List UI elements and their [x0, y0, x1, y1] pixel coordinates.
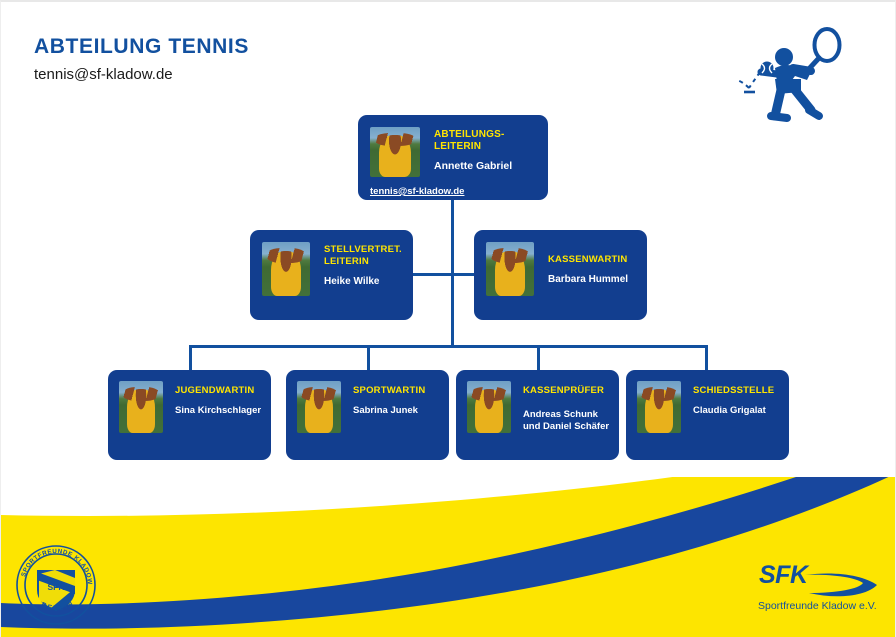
- role-label: ABTEILUNGS- LEITERIN: [434, 129, 548, 153]
- org-card-schiedsstelle[interactable]: SCHIEDSSTELLE Claudia Grigalat: [626, 370, 789, 460]
- connector-drop-1: [189, 345, 192, 371]
- person-photo: [486, 242, 534, 296]
- connector-horizontal-row2: [413, 273, 474, 276]
- person-photo: [119, 381, 163, 433]
- person-photo: [637, 381, 681, 433]
- person-photo: [262, 242, 310, 296]
- person-name: Barbara Hummel: [548, 273, 647, 286]
- card-body: JUGENDWARTIN Sina Kirchschlager: [108, 370, 271, 433]
- person-name: Andreas Schunk und Daniel Schäfer: [523, 409, 619, 434]
- card-text: STELLVERTRET. LEITERIN Heike Wilke: [310, 242, 413, 288]
- role-line-1: STELLVERTRET.: [324, 244, 402, 255]
- org-card-jugendwartin[interactable]: JUGENDWARTIN Sina Kirchschlager: [108, 370, 271, 460]
- card-text: JUGENDWARTIN Sina Kirchschlager: [163, 381, 271, 417]
- sfk-wordmark: SFK: [759, 561, 810, 589]
- card-body: ABTEILUNGS- LEITERIN Annette Gabriel: [358, 115, 548, 177]
- sfk-logo-caption: Sportfreunde Kladow e.V.: [758, 600, 877, 612]
- card-body: STELLVERTRET. LEITERIN Heike Wilke: [250, 230, 413, 296]
- card-text: KASSENPRÜFER Andreas Schunk und Daniel S…: [511, 381, 619, 433]
- card-text: SPORTWARTIN Sabrina Junek: [341, 381, 449, 417]
- person-line-1: Andreas Schunk: [523, 409, 598, 420]
- org-card-kassenpruefer[interactable]: KASSENPRÜFER Andreas Schunk und Daniel S…: [456, 370, 619, 460]
- card-body: KASSENPRÜFER Andreas Schunk und Daniel S…: [456, 370, 619, 433]
- role-line-1: ABTEILUNGS-: [434, 129, 505, 140]
- card-text: SCHIEDSSTELLE Claudia Grigalat: [681, 381, 789, 417]
- connector-horizontal-row3: [189, 345, 707, 348]
- person-photo: [467, 381, 511, 433]
- role-line-2: LEITERIN: [434, 141, 481, 152]
- card-text: KASSENWARTIN Barbara Hummel: [534, 242, 647, 286]
- role-line-2: LEITERIN: [324, 256, 369, 267]
- card-email-link[interactable]: tennis@sf-kladow.de: [370, 186, 548, 197]
- page-title: ABTEILUNG TENNIS: [34, 35, 249, 59]
- card-text: ABTEILUNGS- LEITERIN Annette Gabriel: [420, 127, 548, 174]
- role-label: KASSENWARTIN: [548, 254, 647, 266]
- connector-drop-4: [705, 345, 708, 371]
- card-body: SPORTWARTIN Sabrina Junek: [286, 370, 449, 433]
- role-label: SCHIEDSSTELLE: [693, 385, 789, 397]
- role-label: SPORTWARTIN: [353, 385, 449, 397]
- person-line-1: Claudia Grigalat: [693, 405, 766, 416]
- connector-drop-3: [537, 345, 540, 371]
- club-crest-logo: SPORTFREUNDE KLADOW e.V. BERLIN SFK: [15, 544, 97, 626]
- org-card-stellvertretende-leiterin[interactable]: STELLVERTRET. LEITERIN Heike Wilke: [250, 230, 413, 320]
- person-name: Heike Wilke: [324, 275, 413, 288]
- person-name: Sina Kirchschlager: [175, 405, 271, 417]
- role-label: KASSENPRÜFER: [523, 385, 619, 397]
- person-name: Annette Gabriel: [434, 160, 548, 174]
- person-line-1: Sabrina Junek: [353, 405, 418, 416]
- page-root: ABTEILUNG TENNIS tennis@sf-kladow.de: [0, 0, 896, 637]
- person-photo: [370, 127, 420, 177]
- org-card-abteilungsleiterin[interactable]: ABTEILUNGS- LEITERIN Annette Gabriel ten…: [358, 115, 548, 200]
- role-label: JUGENDWARTIN: [175, 385, 271, 397]
- tennis-player-icon: [727, 24, 859, 124]
- connector-drop-2: [367, 345, 370, 371]
- org-card-kassenwartin[interactable]: KASSENWARTIN Barbara Hummel: [474, 230, 647, 320]
- person-line-2: und Daniel Schäfer: [523, 421, 609, 432]
- header-email: tennis@sf-kladow.de: [34, 66, 173, 83]
- person-line-1: Sina Kirchschlager: [175, 405, 261, 416]
- org-card-sportwartin[interactable]: SPORTWARTIN Sabrina Junek: [286, 370, 449, 460]
- role-label: STELLVERTRET. LEITERIN: [324, 244, 413, 267]
- person-photo: [297, 381, 341, 433]
- crest-center-text: SFK: [48, 582, 66, 592]
- person-name: Sabrina Junek: [353, 405, 449, 417]
- card-body: KASSENWARTIN Barbara Hummel: [474, 230, 647, 296]
- card-body: SCHIEDSSTELLE Claudia Grigalat: [626, 370, 789, 433]
- person-name: Claudia Grigalat: [693, 405, 789, 417]
